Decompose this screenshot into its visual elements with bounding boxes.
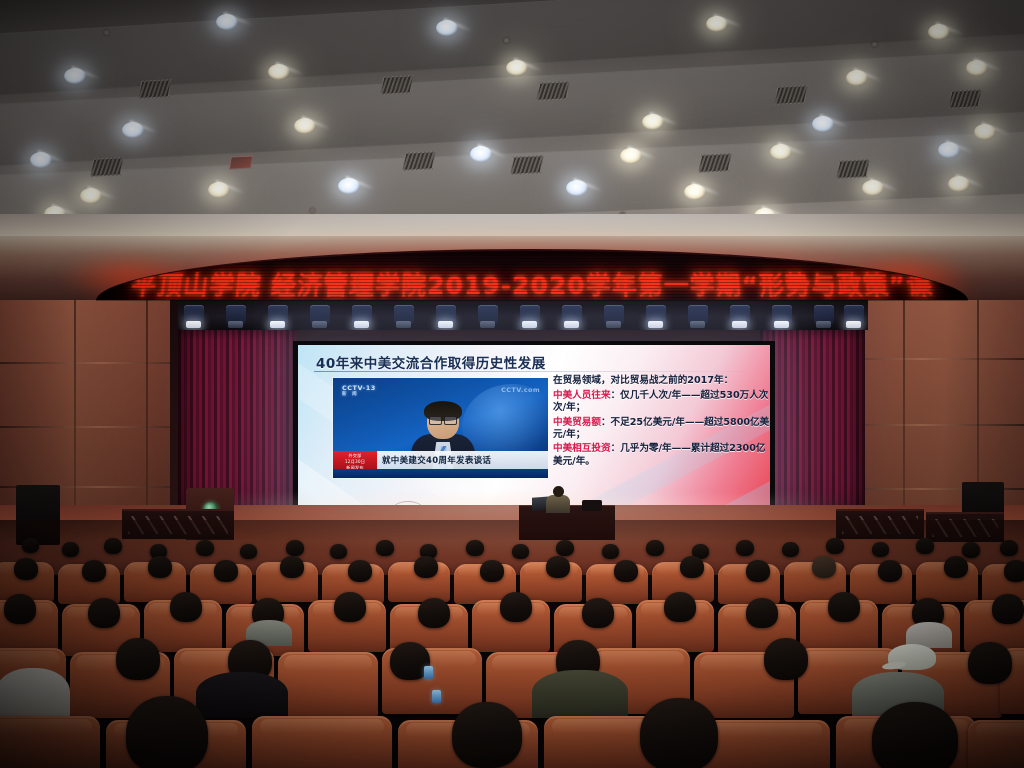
audience-head	[280, 556, 304, 578]
audience-head	[872, 542, 889, 557]
ceiling-downlight	[684, 184, 706, 200]
audience-head	[812, 556, 836, 578]
air-vent	[90, 157, 123, 177]
ceiling-downlight	[216, 14, 238, 30]
ceiling-downlight	[974, 124, 996, 140]
audience-head	[148, 556, 172, 578]
anchor-glasses	[429, 416, 457, 423]
ceiling-downlight	[948, 176, 970, 192]
stage-light	[394, 305, 414, 324]
audience-head	[466, 540, 484, 556]
ceiling-downlight	[122, 122, 144, 138]
audience-head	[992, 594, 1024, 624]
stage-light	[184, 305, 204, 324]
stage-light	[688, 305, 708, 324]
ceiling-downlight	[436, 20, 458, 36]
air-vent	[380, 75, 413, 95]
stage-curtain-right	[760, 306, 865, 524]
slide-paragraph-2: 中美贸易额：不足25亿美元/年——超过5800亿美元/年；	[553, 417, 770, 441]
air-vent	[698, 153, 731, 173]
audience-head	[512, 544, 529, 559]
audience-head	[828, 592, 860, 622]
stage-light	[268, 305, 288, 324]
stage-light	[226, 305, 246, 324]
audience-head	[944, 556, 968, 578]
ceiling-downlight	[80, 188, 102, 204]
audience-head	[646, 540, 664, 556]
slide-title: 40年来中美交流合作取得历史性发展	[316, 352, 546, 372]
sprinkler-head	[872, 42, 877, 47]
audience-head	[82, 560, 106, 582]
audience-head	[664, 592, 696, 622]
stage-light	[478, 305, 498, 324]
air-vent	[836, 159, 869, 179]
stage-lighting-truss	[178, 300, 868, 330]
ceiling	[0, 0, 1024, 250]
ceiling-marker	[229, 155, 253, 169]
slide-body-text: 在贸易领域，对比贸易战之前的2017年： 中美人员往来：仅几千人次/年——超过5…	[553, 375, 770, 470]
audience-head	[348, 560, 372, 582]
audience-head	[170, 592, 202, 622]
audience-head	[452, 702, 522, 768]
ceiling-downlight	[642, 114, 664, 130]
audience-head	[556, 540, 574, 556]
audience-head	[782, 542, 799, 557]
tv-bottom-bar	[333, 469, 548, 478]
news-headline: 就中美建交40周年发表谈话	[377, 454, 491, 466]
stage-light	[562, 305, 582, 324]
stage-light	[310, 305, 330, 324]
slide-paragraph-3: 中美相互投资：几乎为零/年——累计超过2300亿美元/年。	[553, 443, 770, 467]
audience-head	[878, 560, 902, 582]
ceiling-downlight	[620, 148, 642, 164]
ceiling-downlight	[938, 142, 960, 158]
audience-head	[640, 698, 718, 768]
stage-light	[520, 305, 540, 324]
stage-light	[814, 305, 834, 324]
ceiling-downlight	[862, 180, 884, 196]
audience-torso	[0, 668, 70, 720]
news-ticker-tag: 外交部 12月30日 新闻发布	[333, 451, 377, 469]
audience-head	[962, 542, 980, 558]
presenter-head	[553, 486, 564, 497]
presentation-slide: 40年来中美交流合作取得历史性发展 CCTV-13 新 闻 CCTV.com	[298, 345, 770, 520]
stage-light	[352, 305, 372, 324]
audience-head	[214, 560, 238, 582]
audience-head	[746, 598, 778, 628]
audience-seat	[0, 716, 100, 768]
slide-label-1: 中美人员往来	[553, 390, 611, 401]
slide-label-2: 中美贸易额	[553, 417, 601, 428]
ceiling-downlight	[30, 152, 52, 168]
audience-head	[614, 560, 638, 582]
audience-torso	[532, 670, 628, 718]
audience-head	[286, 540, 304, 556]
slide-line-0: 在贸易领域，对比贸易战之前的2017年：	[553, 375, 733, 386]
slide-paragraph-0: 在贸易领域，对比贸易战之前的2017年：	[553, 375, 770, 387]
audience-seat	[252, 716, 392, 768]
presenter-body	[546, 495, 570, 513]
ceiling-downlight	[470, 146, 492, 162]
air-vent	[138, 79, 171, 99]
audience-head	[22, 538, 39, 553]
audience-head	[736, 540, 754, 556]
stage-light	[646, 305, 666, 324]
audience-head	[196, 540, 214, 556]
stage-light	[436, 305, 456, 324]
ceiling-downlight	[64, 68, 86, 84]
air-vent	[536, 81, 569, 101]
audience-head	[88, 598, 120, 628]
audience-head	[546, 556, 570, 578]
ceiling-downlight	[566, 180, 588, 196]
ceiling-downlight	[268, 64, 290, 80]
slide-title-rule	[314, 371, 762, 372]
sprinkler-head	[310, 208, 315, 213]
audience-seat	[278, 652, 378, 718]
ceiling-downlight	[294, 118, 316, 134]
ceiling-downlight	[770, 144, 792, 160]
audience-head	[418, 598, 450, 628]
audience-head	[480, 560, 504, 582]
audience-head	[62, 542, 79, 557]
audience-head	[680, 556, 704, 578]
audience-head	[14, 558, 38, 580]
audience-head	[582, 598, 614, 628]
cctv-channel-logo: CCTV-13 新 闻	[342, 384, 376, 398]
ceiling-downlight	[706, 16, 728, 32]
audience-seating	[0, 520, 1024, 768]
stage-light	[730, 305, 750, 324]
audience-phone	[432, 690, 441, 703]
audience-head	[116, 638, 160, 680]
audience-seat	[968, 720, 1024, 768]
audience-head	[1004, 560, 1024, 582]
audience-head	[334, 592, 366, 622]
audience-head	[916, 538, 934, 554]
audience-head	[126, 696, 208, 768]
ceiling-downlight	[338, 178, 360, 194]
audience-head	[826, 538, 844, 554]
audience-head	[968, 642, 1012, 684]
audience-head	[240, 544, 257, 559]
audience-head	[414, 556, 438, 578]
presenter-figure	[544, 486, 572, 512]
slide-label-3: 中美相互投资	[553, 443, 611, 454]
audience-torso	[196, 672, 288, 718]
cctv-logo-text: CCTV-13	[342, 384, 376, 392]
ceiling-downlight	[208, 182, 230, 198]
auditorium-photo: 平顶山学院 经济管理学院2019-2020学年第一学期“形势与政策”课	[0, 0, 1024, 768]
audience-head	[500, 592, 532, 622]
ceiling-downlight	[812, 116, 834, 132]
slide-paragraph-1: 中美人员往来：仅几千人次/年——超过530万人次次/年；	[553, 390, 770, 414]
air-vent	[774, 85, 807, 105]
audience-head	[1000, 540, 1018, 556]
audience-head	[764, 638, 808, 680]
air-vent	[402, 151, 435, 171]
air-vent	[948, 89, 981, 109]
stage-light	[604, 305, 624, 324]
audience-head	[872, 702, 958, 768]
audience-cap	[888, 644, 936, 670]
audience-head	[602, 544, 619, 559]
tv-news-screenshot: CCTV-13 新 闻 CCTV.com 外交部 12月30日	[333, 378, 548, 478]
ceiling-downlight	[966, 60, 988, 76]
cctv-logo-subtext: 新 闻	[342, 392, 376, 398]
stage-light	[844, 305, 864, 324]
audience-head	[376, 540, 394, 556]
audience-head	[104, 538, 122, 554]
stage-light	[772, 305, 792, 324]
news-lower-third: 外交部 12月30日 新闻发布 就中美建交40周年发表谈话	[333, 451, 548, 469]
audience-head	[4, 594, 36, 624]
ceiling-downlight	[506, 60, 528, 76]
cctv-watermark: CCTV.com	[501, 386, 540, 394]
led-banner-text: 平顶山学院 经济管理学院2019-2020学年第一学期“形势与政策”课	[96, 266, 968, 301]
ceiling-downlight	[928, 24, 950, 40]
presenter-equipment	[582, 500, 602, 511]
ceiling-downlight	[846, 70, 868, 86]
audience-phone	[424, 666, 433, 679]
sprinkler-head	[104, 30, 109, 35]
audience-head	[330, 544, 347, 559]
audience-head	[746, 560, 770, 582]
sprinkler-head	[504, 38, 509, 43]
air-vent	[510, 155, 543, 175]
